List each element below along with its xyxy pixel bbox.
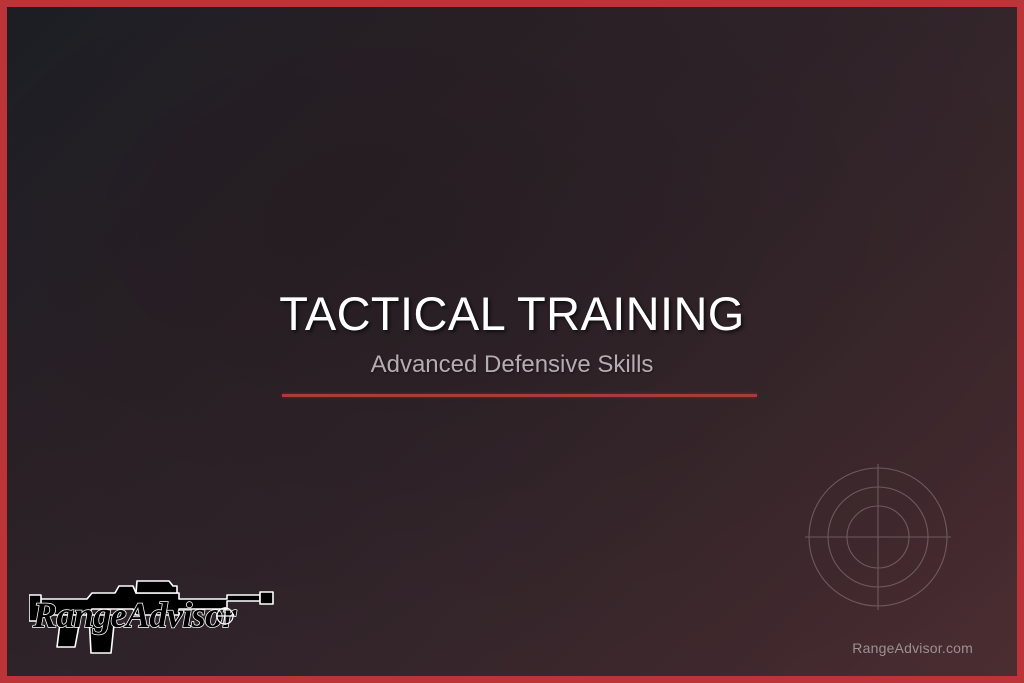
page-subtitle: Advanced Defensive Skills <box>7 350 1017 380</box>
crosshair-target-icon <box>805 464 951 610</box>
footer-url: RangeAdvisor.com <box>852 639 973 657</box>
accent-divider <box>282 394 757 397</box>
brand-wordmark: RangeAdvisor <box>32 595 237 635</box>
title-block: TACTICAL TRAINING Advanced Defensive Ski… <box>7 286 1017 380</box>
page-title: TACTICAL TRAINING <box>7 286 1017 342</box>
presentation-slide: TACTICAL TRAINING Advanced Defensive Ski… <box>0 0 1024 683</box>
brand-logo: RangeAdvisor <box>29 565 279 669</box>
